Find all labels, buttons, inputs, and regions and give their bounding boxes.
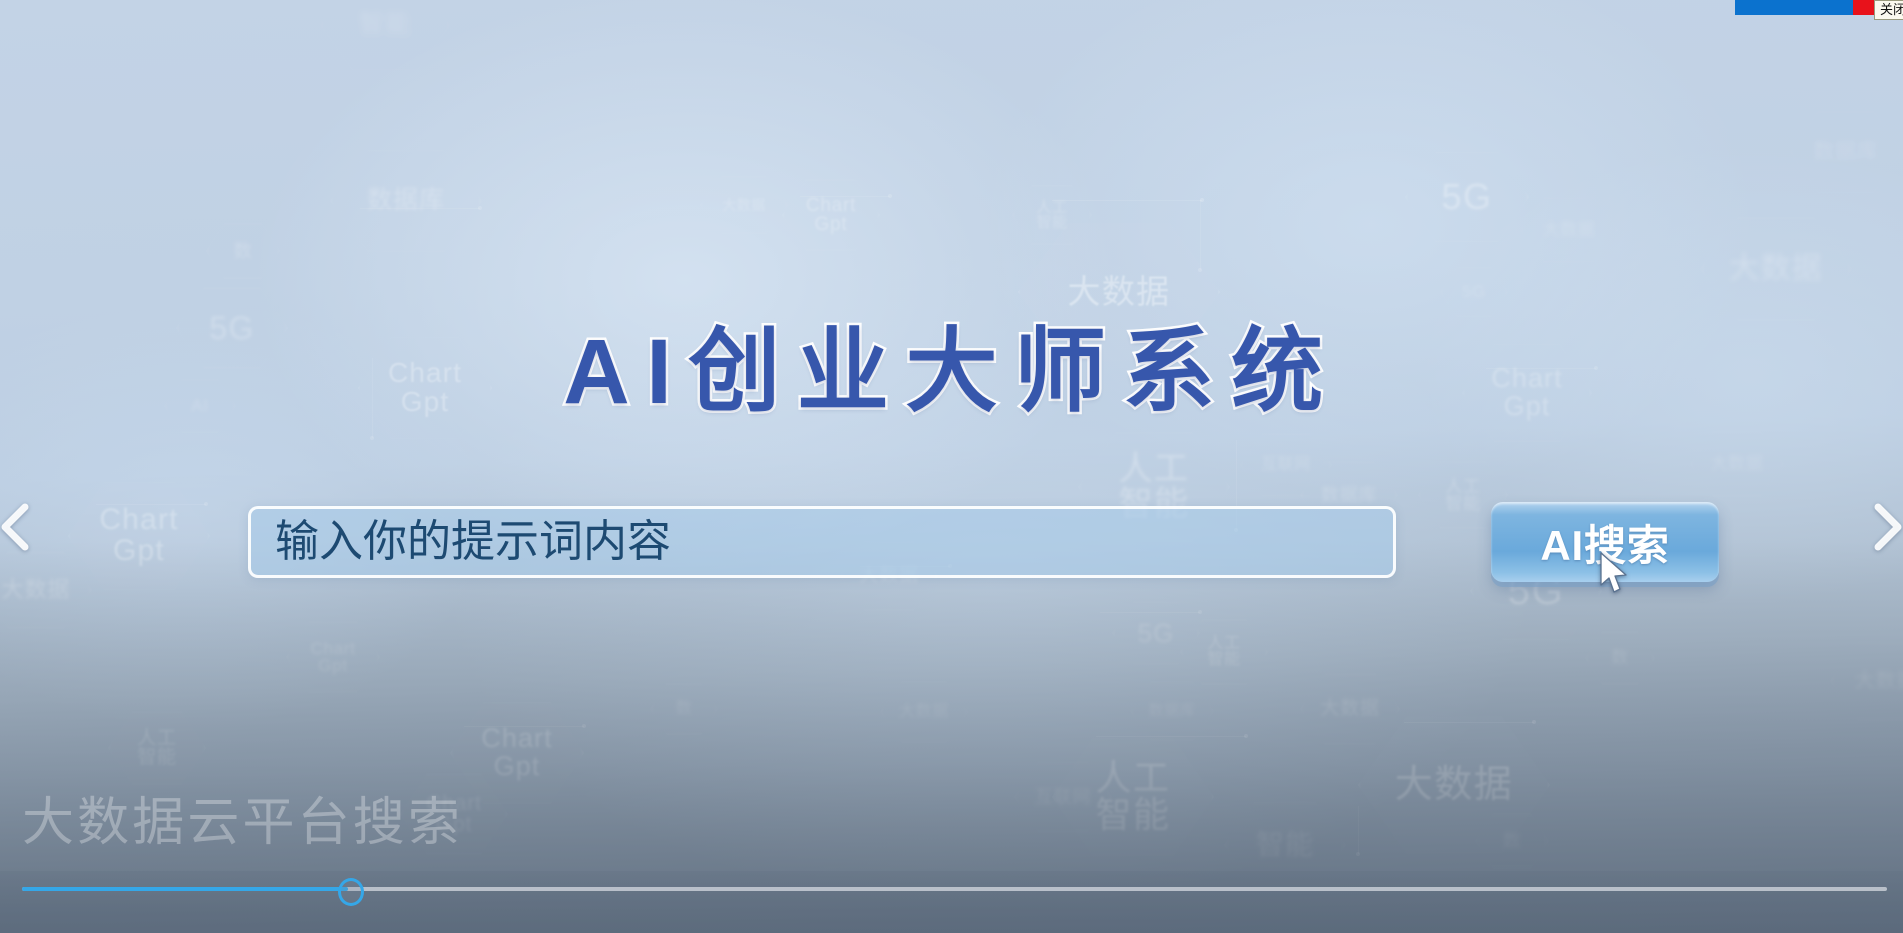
carousel-next-arrow-icon[interactable] xyxy=(1863,497,1903,557)
carousel-prev-arrow-icon[interactable] xyxy=(0,497,40,557)
background-watermark-text: 大数据云平台搜索 xyxy=(22,780,463,855)
progress-track[interactable] xyxy=(22,887,1887,891)
slide-stage: 智能数据库大数据ChartGpt人工智能大数据5G大数据5G大数据数5GChar… xyxy=(0,0,1903,933)
ai-search-button[interactable]: AI搜索 xyxy=(1491,502,1719,582)
window-titlebar-strip xyxy=(1735,0,1853,15)
search-input[interactable] xyxy=(248,506,1396,578)
progress-handle[interactable] xyxy=(338,878,364,906)
search-row: AI搜索 xyxy=(0,500,1903,610)
progress-fill xyxy=(22,887,348,891)
close-tooltip: 关闭 xyxy=(1874,0,1903,20)
player-controls-bar xyxy=(0,871,1903,933)
page-title: AI创业大师系统 xyxy=(0,326,1903,418)
